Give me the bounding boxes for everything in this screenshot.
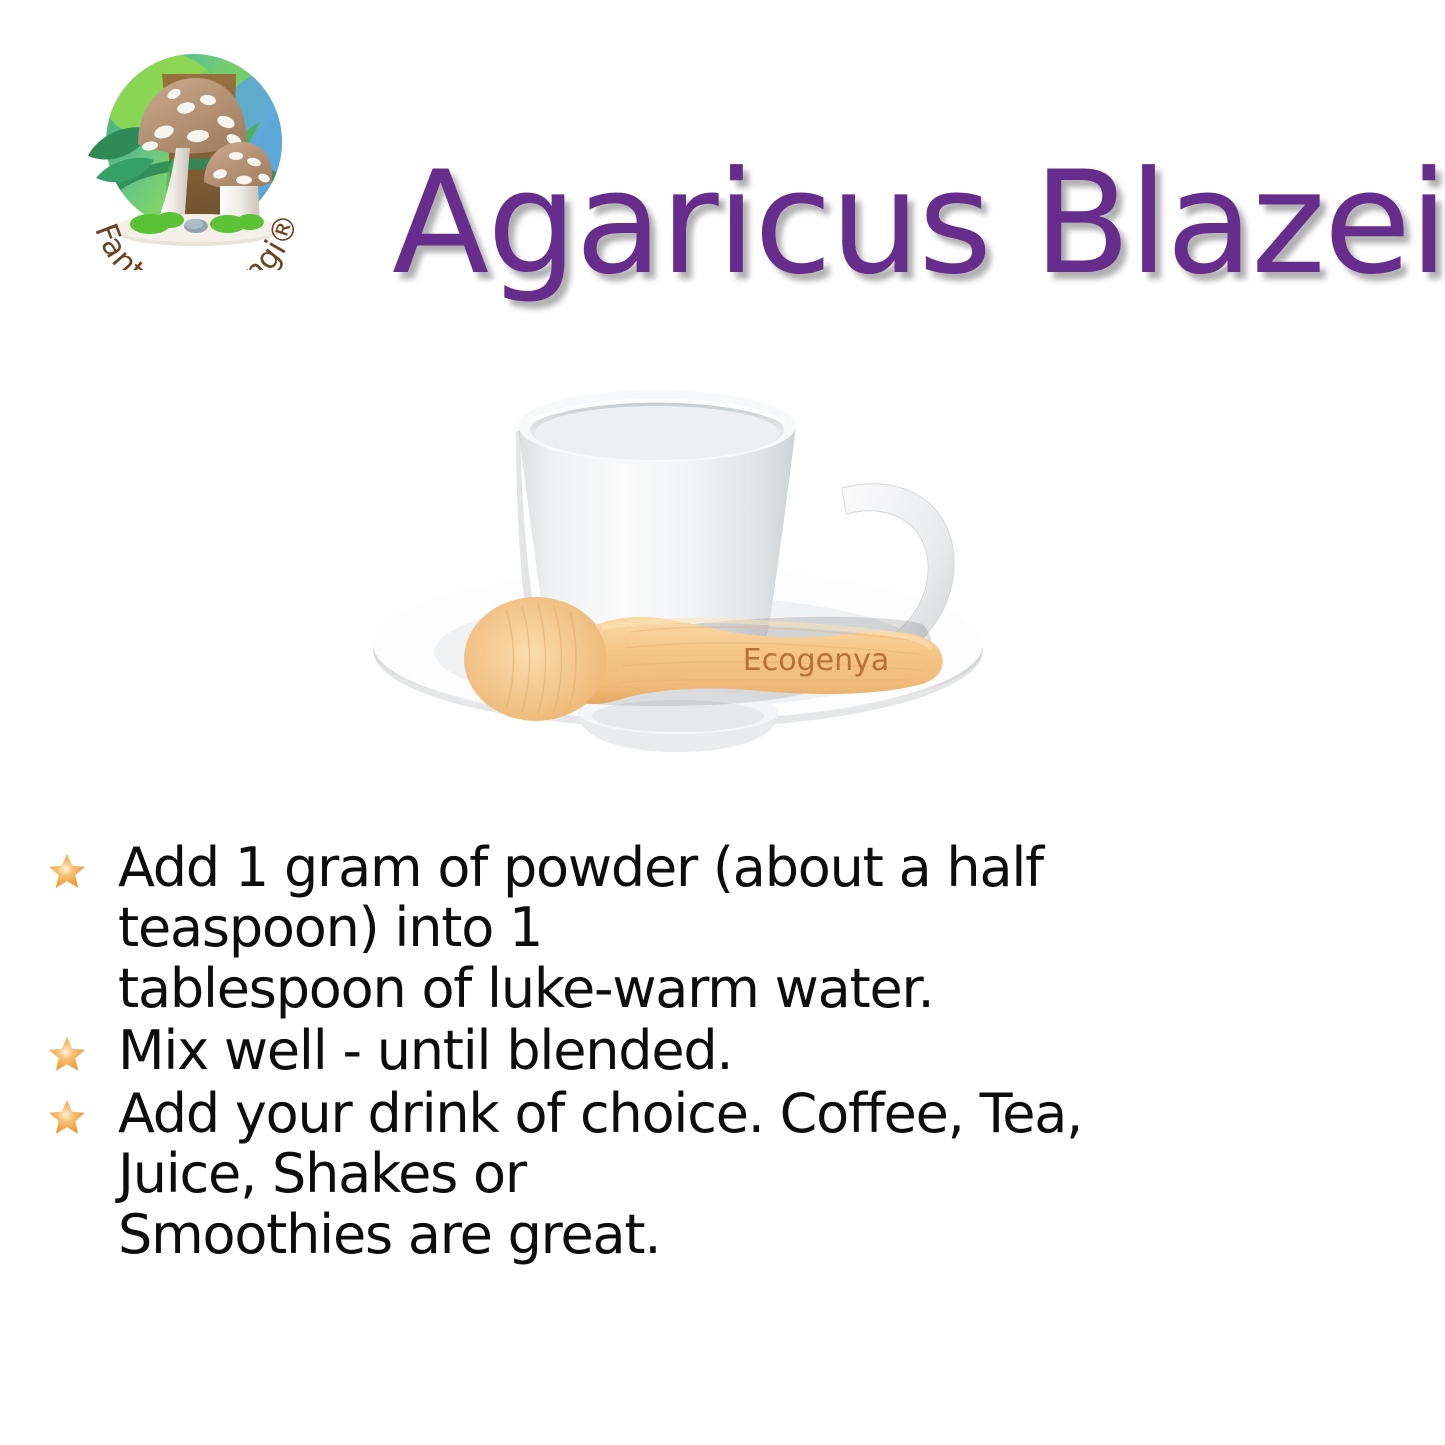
header: Fantastic Fungi® Agaricus Blazei (0, 0, 1445, 300)
list-item-text: Add 1 gram of powder (about a half teasp… (118, 838, 1445, 1019)
list-item: Add 1 gram of powder (about a half teasp… (0, 838, 1445, 1019)
star-icon (48, 852, 86, 890)
star-icon (48, 1035, 86, 1073)
poster-page: Fantastic Fungi® Agaricus Blazei (0, 0, 1445, 1445)
spoon-brand-text: Ecogenya (743, 643, 889, 678)
page-title: Agaricus Blazei (392, 153, 1402, 295)
list-item: Add your drink of choice. Coffee, Tea, J… (0, 1084, 1445, 1265)
instructions-list: Add 1 gram of powder (about a half teasp… (0, 838, 1445, 1267)
list-item-text: Mix well - until blended. (118, 1021, 1445, 1081)
list-item-text: Add your drink of choice. Coffee, Tea, J… (118, 1084, 1445, 1265)
fantastic-fungi-logo: Fantastic Fungi® (78, 38, 310, 270)
star-icon (48, 1098, 86, 1136)
list-item: Mix well - until blended. (0, 1021, 1445, 1081)
cup-and-spoon-image: Ecogenya (330, 360, 1060, 810)
